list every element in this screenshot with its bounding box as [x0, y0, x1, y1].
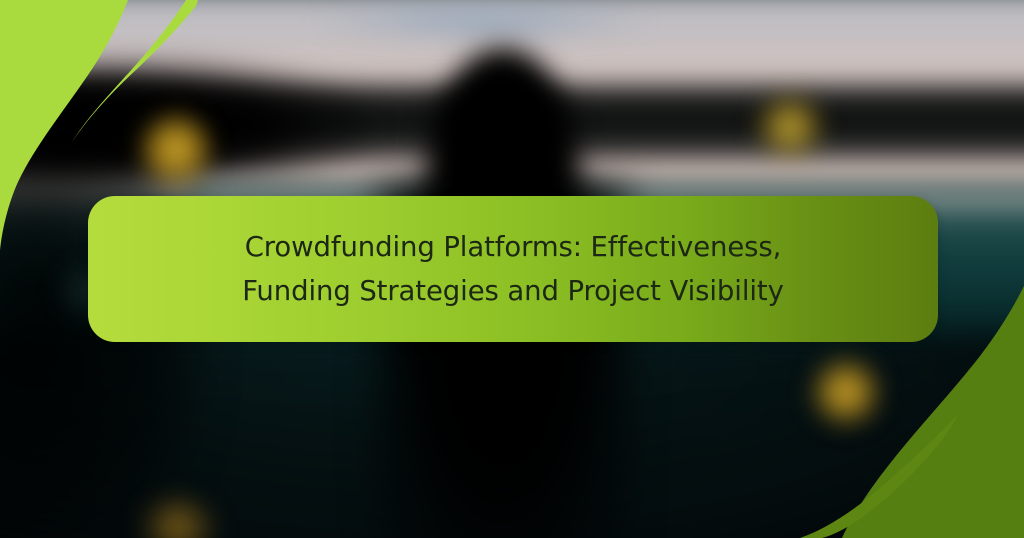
page-title-line-1: Crowdfunding Platforms: Effectiveness, — [245, 231, 782, 263]
article-header-card: Crowdfunding Platforms: Effectiveness,Fu… — [0, 0, 1024, 538]
page-title: Crowdfunding Platforms: Effectiveness,Fu… — [196, 225, 830, 313]
photo-sky-streak — [307, 5, 655, 37]
title-banner: Crowdfunding Platforms: Effectiveness,Fu… — [88, 196, 938, 342]
page-title-line-2: Funding Strategies and Project Visibilit… — [242, 275, 784, 307]
